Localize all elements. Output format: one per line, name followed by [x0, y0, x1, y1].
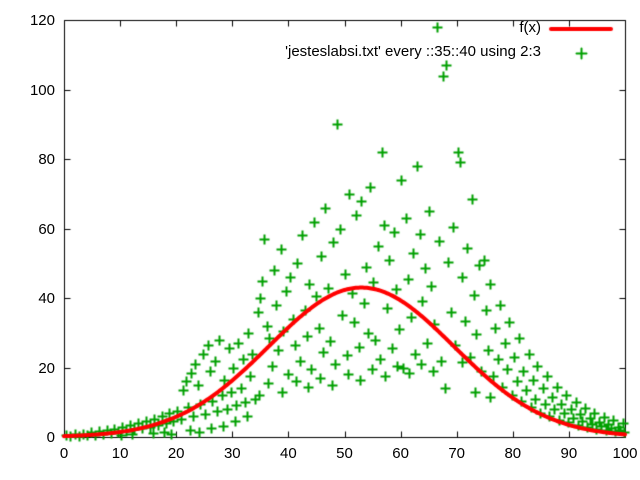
y-tick-label: 120	[30, 13, 55, 28]
y-tick-label: 100	[30, 83, 55, 98]
gnuplot-figure: 020406080100120 0102030405060708090100 f…	[0, 0, 640, 480]
legend-entry-fx: f(x)	[519, 20, 541, 35]
y-tick-label: 20	[38, 361, 55, 376]
x-tick-label: 100	[585, 446, 640, 461]
y-tick-label: 60	[38, 222, 55, 237]
plot-canvas	[0, 0, 640, 480]
y-tick-label: 0	[47, 430, 55, 445]
y-tick-label: 80	[38, 152, 55, 167]
legend-entry-datafile: 'jesteslabsi.txt' every ::35::40 using 2…	[285, 44, 541, 59]
y-tick-label: 40	[38, 291, 55, 306]
